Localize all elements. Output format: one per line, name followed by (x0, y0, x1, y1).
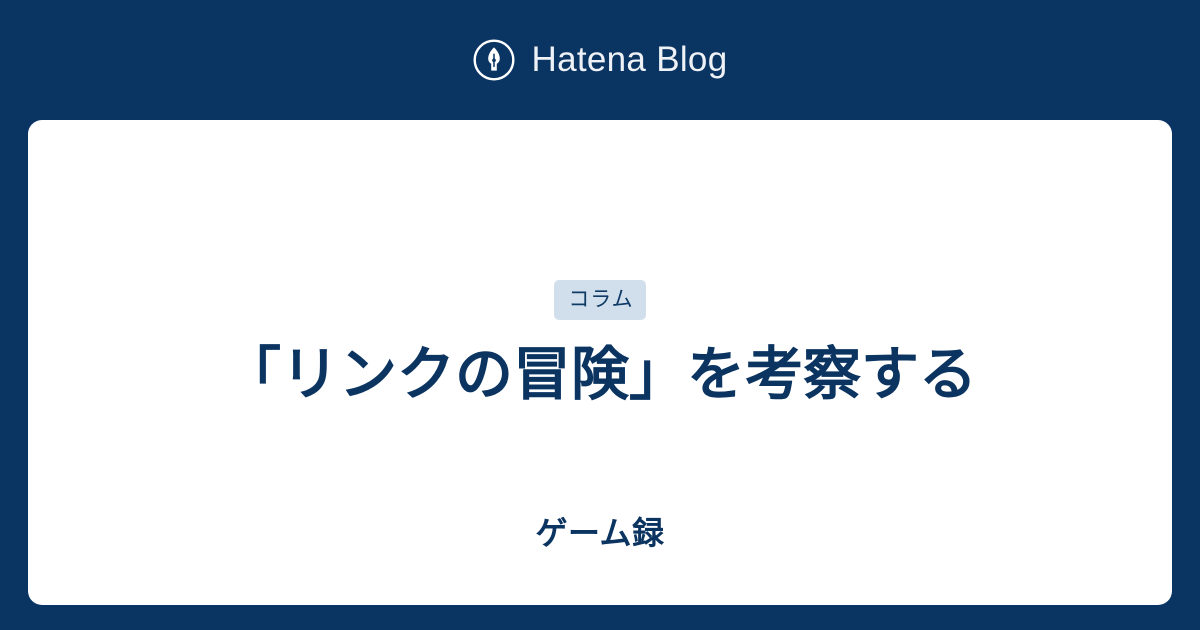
brand-name: Hatena Blog (532, 42, 728, 79)
blog-name[interactable]: ゲーム録 (28, 517, 1172, 549)
entry-title: 「リンクの冒険」を考察する (223, 342, 977, 409)
entry-card: コラム 「リンクの冒険」を考察する ゲーム録 (28, 120, 1172, 605)
hatena-pen-nib-icon (473, 39, 515, 81)
category-tag[interactable]: コラム (554, 280, 645, 320)
site-header: Hatena Blog (0, 0, 1200, 120)
